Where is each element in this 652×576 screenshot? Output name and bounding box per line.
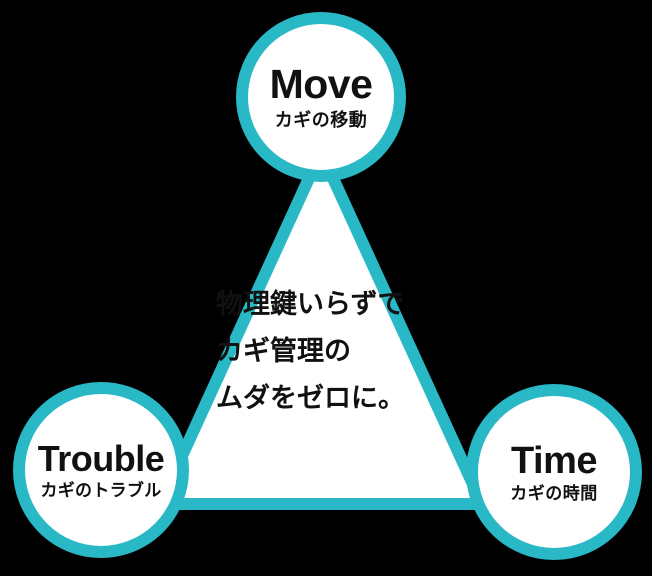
- node-move[interactable]: Move カギの移動: [236, 12, 406, 182]
- node-move-subtitle: カギの移動: [275, 112, 368, 130]
- node-trouble[interactable]: Trouble カギのトラブル: [8, 382, 194, 558]
- node-time-subtitle: カギの時間: [510, 486, 598, 503]
- node-trouble-title: Trouble: [38, 441, 165, 477]
- center-tagline-line-1: 物理鍵いらずで: [216, 281, 446, 328]
- node-time-title: Time: [511, 442, 597, 480]
- center-tagline-line-2: カギ管理の: [216, 328, 446, 375]
- infographic-canvas: Move カギの移動 Trouble カギのトラブル Time カギの時間 物理…: [0, 0, 652, 576]
- node-trouble-subtitle: カギのトラブル: [40, 483, 161, 500]
- center-tagline-line-3: ムダをゼロに。: [216, 375, 446, 422]
- node-move-title: Move: [270, 64, 373, 105]
- center-tagline: 物理鍵いらずで カギ管理の ムダをゼロに。: [216, 281, 446, 422]
- node-time[interactable]: Time カギの時間: [463, 384, 645, 560]
